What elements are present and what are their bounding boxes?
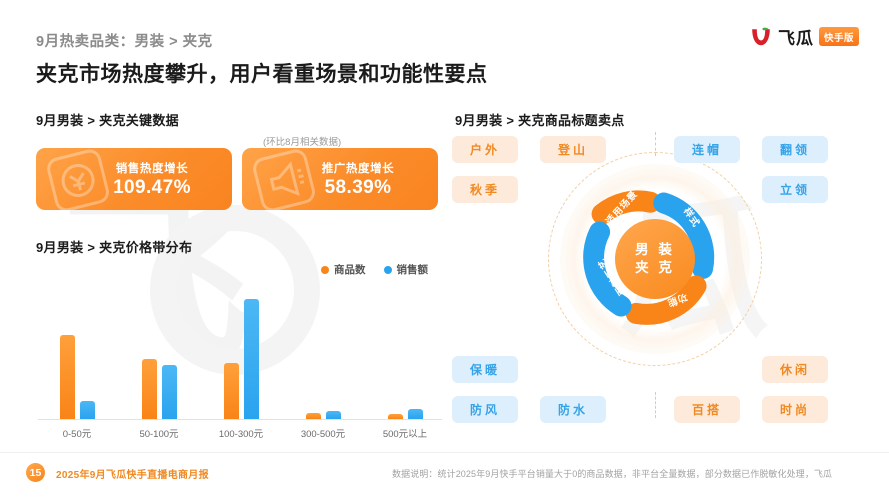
x-axis-label: 100-300元 [200, 426, 282, 440]
tag-chip[interactable]: 防水 [540, 396, 606, 423]
page-header: 9月热卖品类：男装 > 夹克 夹克市场热度攀升，用户看重场景和功能性要点 飞瓜 … [0, 0, 889, 95]
bar[interactable] [142, 359, 157, 419]
metric-label: 推广热度增长 [300, 160, 416, 176]
page-number-badge: 15 [26, 463, 45, 482]
legend-label: 商品数 [334, 262, 366, 277]
metric-value: 58.39% [300, 177, 416, 199]
chart-legend: 商品数 销售额 [321, 262, 428, 277]
page-footer: 15 2025年9月飞瓜快手直播电商月报 数据说明：统计2025年9月快手平台销… [0, 452, 889, 500]
brand-logo: 飞瓜 快手版 [749, 24, 859, 49]
tag-chip[interactable]: 秋季 [452, 176, 518, 203]
metric-card-text: 销售热度增长 109.47% [94, 160, 210, 199]
metric-value: 109.47% [94, 177, 210, 199]
legend-dot-icon [384, 266, 392, 274]
breadcrumb: 9月热卖品类：男装 > 夹克 [36, 30, 213, 51]
tag-chip[interactable]: 立领 [762, 176, 828, 203]
metric-card-text: 推广热度增长 58.39% [300, 160, 416, 199]
tags-section-title: 9月男装 > 夹克商品标题卖点 [455, 110, 625, 129]
x-axis-label: 500元以上 [364, 426, 446, 440]
key-data-section-title: 9月男装 > 夹克关键数据 [36, 110, 179, 129]
tag-chip[interactable]: 防风 [452, 396, 518, 423]
bar[interactable] [80, 401, 95, 418]
bar[interactable] [224, 363, 239, 418]
donut-center-label: 男 装 夹 克 [615, 219, 695, 299]
footer-disclaimer: 数据说明：统计2025年9月快手平台销量大于0的商品数据，非平台全量数据，部分数… [392, 467, 832, 480]
tag-chip[interactable]: 保暖 [452, 356, 518, 383]
center-line-2: 夹 克 [635, 259, 675, 277]
chart-plot-area [36, 290, 446, 420]
tag-chip[interactable]: 翻领 [762, 136, 828, 163]
bar[interactable] [244, 299, 259, 418]
metric-card-group: 销售热度增长 109.47% 推广热度增长 58.39% [36, 148, 438, 210]
bar[interactable] [162, 365, 177, 418]
key-data-note: (环比8月相关数据) [263, 134, 341, 148]
legend-item[interactable]: 商品数 [321, 262, 366, 277]
logo-badge: 快手版 [819, 27, 859, 46]
bar-group [364, 291, 446, 419]
legend-dot-icon [321, 266, 329, 274]
bar-group [118, 291, 200, 419]
x-axis-labels: 0-50元50-100元100-300元300-500元500元以上 [36, 426, 446, 440]
center-line-1: 男 装 [635, 241, 675, 259]
feigua-logo-icon [749, 25, 773, 49]
tag-chip[interactable]: 连帽 [674, 136, 740, 163]
selling-point-panel: 男 装 夹 克 适用场景 样式 功能 面料工艺 户外 登山 秋季 连帽 翻领 立… [452, 132, 860, 442]
tag-chip[interactable]: 户外 [452, 136, 518, 163]
tag-chip[interactable]: 休闲 [762, 356, 828, 383]
x-axis-line [38, 419, 442, 421]
x-axis-label: 0-50元 [36, 426, 118, 440]
page-title: 夹克市场热度攀升，用户看重场景和功能性要点 [36, 58, 488, 88]
bar-groups [36, 291, 446, 419]
bar-group [200, 291, 282, 419]
bar[interactable] [326, 411, 341, 418]
bar[interactable] [60, 335, 75, 418]
metric-card[interactable]: 推广热度增长 58.39% [242, 148, 438, 210]
selling-point-donut: 男 装 夹 克 适用场景 样式 功能 面料工艺 [574, 178, 736, 340]
x-axis-label: 300-500元 [282, 426, 364, 440]
legend-item[interactable]: 销售额 [384, 262, 429, 277]
metric-card[interactable]: 销售热度增长 109.47% [36, 148, 232, 210]
price-band-bar-chart: 商品数 销售额 0-50元50-100元100-300元300-500元500元… [36, 262, 446, 437]
bar[interactable] [408, 409, 423, 419]
tag-chip[interactable]: 登山 [540, 136, 606, 163]
x-axis-label: 50-100元 [118, 426, 200, 440]
price-chart-section-title: 9月男装 > 夹克价格带分布 [36, 237, 192, 256]
tag-chip[interactable]: 时尚 [762, 396, 828, 423]
slide-page: 飞 瓜 9月热卖品类：男装 > 夹克 夹克市场热度攀升，用户看重场景和功能性要点… [0, 0, 889, 500]
metric-label: 销售热度增长 [94, 160, 210, 176]
bar-group [282, 291, 364, 419]
footer-title: 2025年9月飞瓜快手直播电商月报 [56, 466, 209, 481]
bar-group [36, 291, 118, 419]
divider-bottom [655, 392, 656, 418]
tag-chip[interactable]: 百搭 [674, 396, 740, 423]
legend-label: 销售额 [397, 262, 429, 277]
logo-text: 飞瓜 [778, 24, 814, 49]
